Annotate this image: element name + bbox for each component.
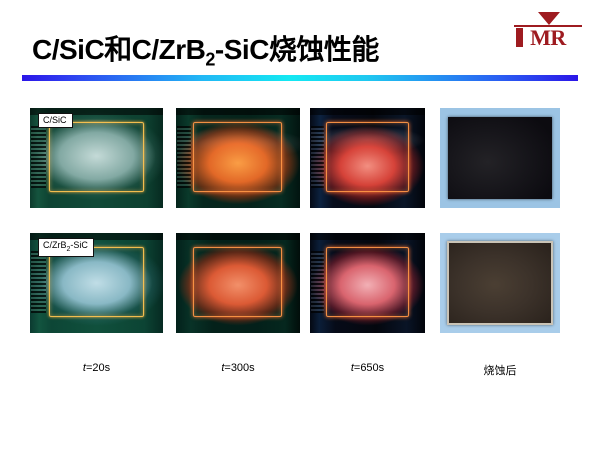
photo-canvas [310,233,425,333]
specimen-outline [326,122,409,192]
specimen-outline [49,122,144,192]
caption-value: =300s [224,362,254,374]
photo-canvas [176,108,300,208]
photo-c-zrb2-sic-t300 [176,233,300,333]
photo-edge-streak [177,126,191,188]
specimen-outline [193,122,282,192]
logo-text: MR [512,25,584,50]
caption-after-ablation: 烧蚀后 [440,362,560,378]
photo-canvas [176,233,300,333]
photo-top-band [176,108,300,115]
photo-top-band [176,233,300,240]
ablated-specimen [448,117,551,199]
photo-top-band [310,233,425,240]
photo-c-sic-t20: C/SiC [30,108,163,208]
photo-top-band [310,108,425,115]
photo-canvas [440,108,560,208]
specimen-outline [49,247,144,317]
material-label-c-sic: C/SiC [38,113,73,128]
caption-t20: t=20s [30,362,163,374]
caption-value: =20s [86,362,110,374]
photo-c-zrb2-sic-t650 [310,233,425,333]
photo-c-zrb2-sic-after [440,233,560,333]
photo-c-zrb2-sic-t20: C/ZrB2-SiC [30,233,163,333]
title-accent-rule [22,75,578,81]
caption-value: =650s [354,362,384,374]
caption-t300: t=300s [176,362,300,374]
photo-edge-streak [311,126,324,188]
caption-value: 烧蚀后 [484,365,517,377]
photo-c-sic-t300 [176,108,300,208]
imr-logo: MR [512,12,584,50]
caption-t650: t=650s [310,362,425,374]
photo-canvas [310,108,425,208]
photo-edge-streak [31,251,46,313]
specimen-outline [193,247,282,317]
logo-triangle-icon [538,12,560,25]
photo-edge-streak [311,251,324,313]
photo-edge-streak [31,126,46,188]
photo-canvas [440,233,560,333]
page-title: C/SiC和C/ZrB2-SiC烧蚀性能 [32,28,379,71]
ablated-specimen [447,241,553,325]
specimen-outline [326,247,409,317]
photo-c-sic-t650 [310,108,425,208]
photo-c-sic-after [440,108,560,208]
slide-canvas: MR C/SiC和C/ZrB2-SiC烧蚀性能 C/SiC [0,0,600,450]
material-label-c-zrb2-sic: C/ZrB2-SiC [38,238,94,257]
